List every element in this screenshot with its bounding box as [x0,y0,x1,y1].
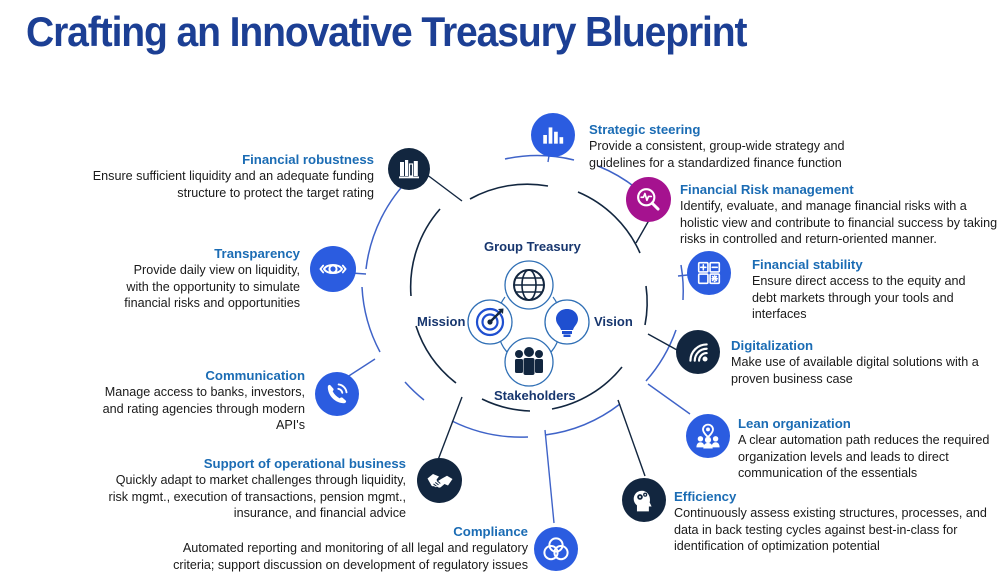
callout-heading: Transparency [110,246,300,262]
icon-badge-financial-robustness[interactable] [388,148,430,190]
icon-badge-support-of-operational-business[interactable] [417,458,462,503]
callout-transparency: Transparency Provide daily view on liqui… [110,246,300,312]
callout-heading: Financial stability [752,257,990,273]
callout-heading: Lean organization [738,416,990,432]
callout-body: Automated reporting and monitoring of al… [140,540,528,573]
callout-body: Manage access to banks, investors, and r… [100,384,305,434]
callout-body: A clear automation path reduces the requ… [738,432,990,482]
hub-label-group-treasury: Group Treasury [484,239,581,254]
callout-lean-organization: Lean organization A clear automation pat… [738,416,990,482]
callout-body: Ensure sufficient liquidity and an adequ… [78,168,374,201]
callout-body: Provide a consistent, group-wide strateg… [589,138,874,171]
callout-financial-robustness: Financial robustness Ensure sufficient l… [78,152,374,201]
callout-heading: Compliance [140,524,528,540]
callout-body: Continuously assess existing structures,… [674,505,994,555]
wifi-signal-icon [685,339,711,365]
head-gears-icon [631,487,657,513]
callout-compliance: Compliance Automated reporting and monit… [140,524,528,573]
icon-badge-communication[interactable] [315,372,359,416]
books-icon [397,157,421,181]
callout-body: Quickly adapt to market challenges throu… [96,472,406,522]
icon-badge-financial-risk-management[interactable] [626,177,671,222]
icon-badge-lean-organization[interactable] [686,414,730,458]
icon-badge-transparency[interactable] [310,246,356,292]
callout-heading: Efficiency [674,489,994,505]
callout-strategic-steering: Strategic steering Provide a consistent,… [589,122,874,171]
icon-badge-digitalization[interactable] [676,330,720,374]
callout-heading: Communication [100,368,305,384]
handshake-icon [426,467,454,495]
eye-icon [319,255,347,283]
hub-label-vision: Vision [594,314,633,329]
icon-badge-compliance[interactable] [534,527,578,571]
connector-lean-organization [648,384,690,414]
callout-support-of-operational-business: Support of operational business Quickly … [96,456,406,522]
callout-body: Provide daily view on liquidity, with th… [110,262,300,312]
people-icon [515,347,543,375]
callout-digitalization: Digitalization Make use of available dig… [731,338,981,387]
icon-badge-financial-stability[interactable] [687,251,731,295]
callout-efficiency: Efficiency Continuously assess existing … [674,489,994,555]
icon-badge-efficiency[interactable] [622,478,666,522]
callout-body: Ensure direct access to the equity and d… [752,273,990,323]
callout-heading: Digitalization [731,338,981,354]
callout-communication: Communication Manage access to banks, in… [100,368,305,434]
callout-financial-stability: Financial stability Ensure direct access… [752,257,990,323]
callout-heading: Financial Risk management [680,182,1002,198]
calculator-icon [696,260,722,286]
callout-heading: Strategic steering [589,122,874,138]
infographic-canvas: Crafting an Innovative Treasury Blueprin… [0,0,1005,582]
connector-efficiency [618,400,645,476]
risk-magnifier-icon [635,186,662,213]
callout-heading: Support of operational business [96,456,406,472]
callout-heading: Financial robustness [78,152,374,168]
connector-compliance [545,430,554,523]
venn-circles-icon [542,535,570,563]
callout-body: Make use of available digital solutions … [731,354,981,387]
icon-badge-strategic-steering[interactable] [531,113,575,157]
hub-label-mission: Mission [417,314,465,329]
connector-support-operational [438,397,462,460]
bar-chart-icon [540,122,566,148]
people-pin-icon [695,423,721,449]
hub-label-stakeholders: Stakeholders [494,388,576,403]
connector-digitalization [648,334,677,350]
phone-waves-icon [324,381,350,407]
callout-financial-risk-management: Financial Risk management Identify, eval… [680,182,1002,248]
callout-body: Identify, evaluate, and manage financial… [680,198,1002,248]
